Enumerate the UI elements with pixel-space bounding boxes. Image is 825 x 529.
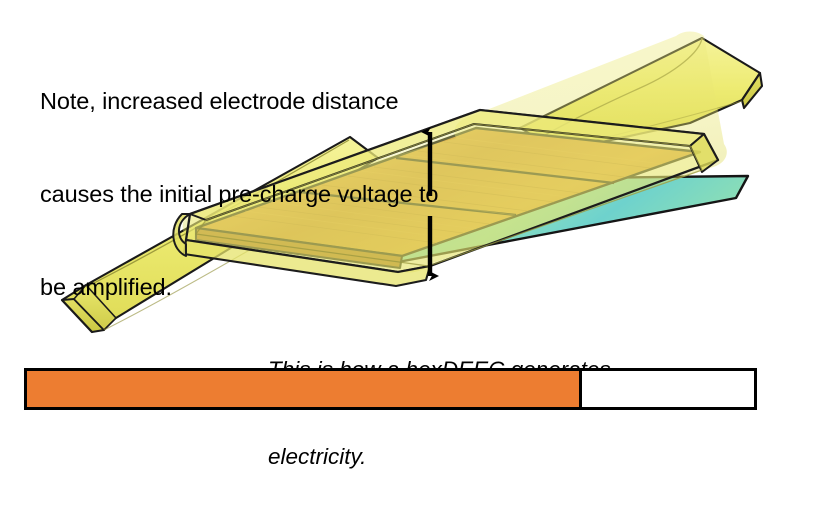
caption-text: This is how a hexDEEC generates electric… (268, 297, 708, 529)
slide-progress-bar[interactable] (24, 368, 757, 410)
slide-canvas: Note, increased electrode distance cause… (0, 0, 825, 475)
progress-divider (579, 371, 582, 407)
progress-fill (27, 371, 580, 407)
note-line-1: Note, increased electrode distance (40, 86, 580, 117)
note-line-2: causes the initial pre-charge voltage to (40, 179, 580, 210)
caption-line-2: electricity. (268, 442, 708, 471)
